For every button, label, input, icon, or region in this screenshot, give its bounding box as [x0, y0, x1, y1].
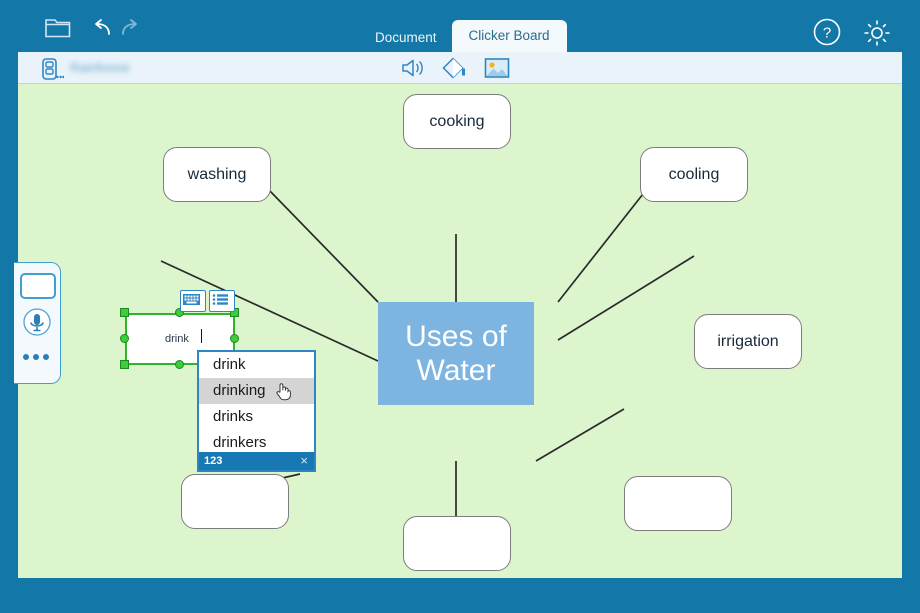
hand-cursor-icon [275, 381, 291, 401]
resize-handle-w[interactable] [120, 334, 129, 343]
node-label: cooling [669, 166, 720, 184]
resize-handle-s[interactable] [175, 360, 184, 369]
new-box-icon[interactable] [20, 273, 56, 299]
gear-icon[interactable] [861, 17, 893, 49]
svg-text:?: ? [823, 25, 831, 42]
board-tools [400, 56, 510, 80]
document-title: Rainforest [70, 60, 129, 75]
folder-icon[interactable] [44, 15, 72, 39]
popup-footer: 123 × [199, 452, 314, 470]
app-window: Document Clicker Board ? [0, 0, 920, 613]
prediction-item-3[interactable]: drinks [199, 404, 314, 430]
center-node-line2: Water [405, 354, 507, 388]
picture-icon[interactable] [484, 56, 510, 80]
resize-handle-nw[interactable] [120, 308, 129, 317]
node-washing[interactable]: washing [163, 147, 271, 202]
prediction-label: drinks [213, 408, 253, 425]
inline-tool-row [180, 290, 235, 312]
paint-fill-icon[interactable] [442, 56, 468, 80]
word-list-icon[interactable] [209, 290, 235, 312]
node-label: washing [188, 166, 247, 184]
document-icon[interactable] [40, 57, 64, 81]
edit-box-text: drink [165, 333, 189, 345]
more-options-icon[interactable] [23, 354, 49, 360]
tab-document[interactable]: Document [360, 24, 452, 53]
help-icon[interactable]: ? [812, 17, 842, 47]
speaker-icon[interactable] [400, 56, 426, 80]
side-tool-panel [14, 262, 61, 384]
prediction-item-2[interactable]: drinking [199, 378, 314, 404]
node-cooking[interactable]: cooking [403, 94, 511, 149]
node-irrigation[interactable]: irrigation [694, 314, 802, 369]
word-prediction-popup[interactable]: drink drinking drinks drinkers 123 × [197, 350, 316, 472]
node-cooling[interactable]: cooling [640, 147, 748, 202]
node-empty-bottom[interactable] [403, 516, 511, 571]
microphone-icon[interactable] [22, 307, 52, 337]
top-toolbar: Document Clicker Board ? [0, 0, 920, 52]
prediction-label: drinking [213, 382, 266, 399]
resize-handle-sw[interactable] [120, 360, 129, 369]
tab-clicker-board[interactable]: Clicker Board [452, 20, 567, 53]
center-node-line1: Uses of [405, 320, 507, 354]
center-node[interactable]: Uses of Water [378, 302, 534, 405]
text-caret [201, 329, 202, 343]
keyboard-icon[interactable] [180, 290, 206, 312]
redo-icon[interactable] [118, 18, 140, 38]
number-order-icon[interactable]: 123 [204, 454, 222, 468]
close-icon[interactable]: × [300, 453, 308, 469]
document-toolbar: Rainforest [18, 52, 902, 84]
undo-icon[interactable] [92, 18, 114, 38]
prediction-label: drinkers [213, 434, 266, 451]
node-empty-left[interactable] [181, 474, 289, 529]
tab-bar: Document Clicker Board [360, 0, 567, 52]
prediction-item-1[interactable]: drink [199, 352, 314, 378]
node-label: cooking [429, 113, 484, 131]
resize-handle-e[interactable] [230, 334, 239, 343]
node-empty-right[interactable] [624, 476, 732, 531]
prediction-label: drink [213, 356, 246, 373]
node-label: irrigation [717, 333, 778, 351]
